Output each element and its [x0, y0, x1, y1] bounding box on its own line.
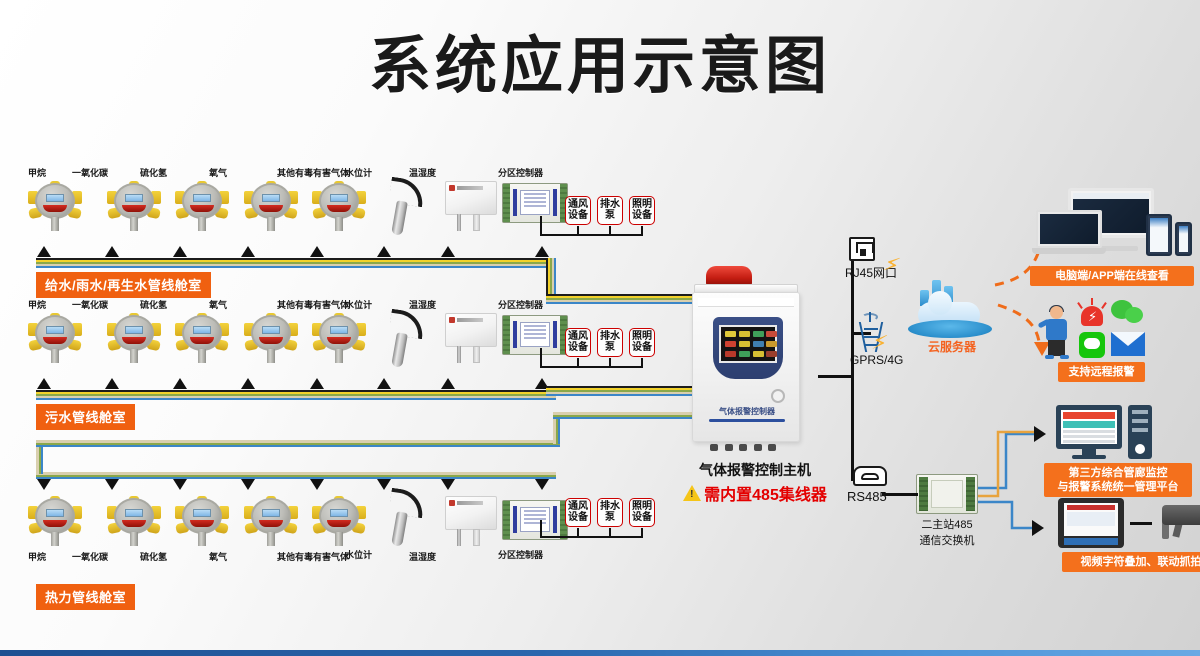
email-icon — [1111, 332, 1145, 356]
controller-to-network-line — [818, 375, 854, 378]
equipment-drop-2 — [609, 226, 611, 235]
rs485-group: RS485 — [847, 466, 887, 504]
controller-device-caption: 气体报警控制器 — [711, 406, 783, 417]
controller-accent-line — [709, 419, 785, 422]
alarm-host-label: 气体报警控制主机 — [660, 460, 850, 480]
cable-bus-row1 — [36, 258, 556, 268]
water-level-probe-icon — [380, 311, 434, 369]
equipment-ventilation[interactable]: 通风设备 — [565, 498, 591, 527]
controller-panel — [713, 317, 783, 379]
sensor-uplink-arrow — [37, 246, 51, 257]
equipment-lighting[interactable]: 照明设备 — [629, 196, 655, 225]
gas-detector-icon — [175, 313, 229, 365]
equipment-drop-3 — [641, 358, 643, 367]
controller-lcd-screen — [719, 325, 777, 363]
equipment-lighting[interactable]: 照明设备 — [629, 328, 655, 357]
chamber-row-water-supply: 甲烷 一氧化碳 硫化氢 氧气 — [0, 168, 680, 288]
sensor-uplink-arrow — [535, 246, 549, 257]
water-level-probe-icon — [380, 179, 434, 237]
sensor-downlink-arrow — [105, 479, 119, 490]
devices-mockup — [1024, 188, 1194, 262]
platform-caption-line2: 与报警系统统一管理平台 — [1058, 481, 1179, 493]
controller-top-band — [698, 298, 794, 307]
sensor-downlink-arrow — [241, 479, 255, 490]
rj45-icon — [849, 237, 875, 261]
alarm-warning: 需内置485集线器 — [660, 481, 850, 505]
cable-bus-row2 — [36, 390, 556, 400]
temp-humidity-sensor-icon — [441, 311, 501, 365]
equipment-drop-1 — [577, 528, 579, 537]
equipment-riser-r3 — [540, 520, 542, 537]
monitoring-workstation-icon — [1056, 405, 1152, 461]
diagram-canvas: 系统应用示意图 甲烷 一氧化碳 硫化氢 — [0, 0, 1200, 656]
rs485-switch-label-line2: 通信交换机 — [916, 532, 978, 548]
sensor-uplink-arrow — [105, 378, 119, 389]
equipment-group-r1: 通风设备 排水泵 照明设备 — [565, 196, 655, 225]
wechat-icon — [1111, 300, 1143, 326]
zone-controller-board-icon — [502, 500, 568, 540]
equipment-group-r2: 通风设备 排水泵 照明设备 — [565, 328, 655, 357]
phone-icon — [1175, 222, 1192, 256]
gas-detector-icon — [107, 181, 161, 233]
pc-app-panel: 电脑端/APP端在线查看 — [1024, 188, 1194, 286]
video-overlay-device-icon — [1058, 498, 1124, 548]
controller-cable-glands — [710, 444, 776, 451]
gas-detector-icon — [312, 313, 366, 365]
platform-panel: 第三方综合管廊监控 与报警系统统一管理平台 — [1048, 405, 1192, 497]
sensor-uplink-arrow — [310, 246, 324, 257]
equipment-drain-pump[interactable]: 排水泵 — [597, 498, 623, 527]
laptop-icon — [1032, 210, 1106, 254]
gas-detector-icon — [175, 181, 229, 233]
equipment-drop-3 — [641, 528, 643, 537]
alarm-warning-text: 需内置485集线器 — [704, 481, 827, 505]
sensor-downlink-arrow — [377, 479, 391, 490]
video-panel: 视频字符叠加、联动抓拍 — [1058, 498, 1200, 572]
equipment-riser-r2 — [540, 348, 542, 367]
video-device-link — [1130, 522, 1152, 525]
equipment-lighting[interactable]: 照明设备 — [629, 498, 655, 527]
sensor-downlink-arrow — [441, 479, 455, 490]
gas-detector-icon — [175, 496, 229, 548]
rs485-label: RS485 — [847, 489, 887, 504]
chamber-banner-water-supply: 给水/雨水/再生水管线舱室 — [36, 272, 211, 298]
sensor-uplink-arrow — [377, 378, 391, 389]
sensor-uplink-arrow — [441, 378, 455, 389]
gas-alarm-controller-host[interactable]: 气体报警控制器 — [688, 262, 818, 452]
video-caption: 视频字符叠加、联动抓拍 — [1062, 552, 1200, 572]
zone-controller-board-icon — [502, 183, 568, 223]
temp-humidity-sensor-icon — [441, 179, 501, 233]
rs485-port-icon — [853, 466, 887, 486]
person-icon — [1040, 306, 1074, 358]
cctv-camera-icon — [1158, 503, 1200, 543]
equipment-drop-3 — [641, 226, 643, 235]
sensor-uplink-arrow — [173, 378, 187, 389]
sensor-downlink-arrow — [173, 479, 187, 490]
bus-trunk-row3-lower — [36, 440, 560, 447]
alarm-beacon-icon — [706, 266, 752, 286]
gas-detector-icon — [107, 496, 161, 548]
sms-icon — [1079, 332, 1105, 358]
gas-detector-icon — [28, 181, 82, 233]
platform-link-arrow — [1034, 426, 1046, 442]
chamber-banner-sewage: 污水管线舱室 — [36, 404, 135, 430]
platform-caption-line1: 第三方综合管廊监控 — [1069, 467, 1168, 479]
bus-trunk-row2 — [546, 386, 694, 396]
remote-alarm-caption: 支持远程报警 — [1058, 362, 1145, 382]
rs485-switch-group: 二主站485 通信交换机 — [916, 474, 978, 548]
sensor-uplink-arrow — [37, 378, 51, 389]
bus-riser-row1 — [546, 258, 556, 294]
gas-detector-icon — [244, 496, 298, 548]
gas-detector-icon — [244, 313, 298, 365]
pc-app-caption: 电脑端/APP端在线查看 — [1030, 266, 1194, 286]
equipment-ventilation[interactable]: 通风设备 — [565, 196, 591, 225]
equipment-drop-1 — [577, 358, 579, 367]
alarm-siren-icon: ⚡ — [1079, 300, 1105, 328]
platform-caption: 第三方综合管廊监控 与报警系统统一管理平台 — [1044, 463, 1192, 497]
gas-detector-icon — [244, 181, 298, 233]
gas-detector-icon — [312, 496, 366, 548]
chamber-banner-heating: 热力管线舱室 — [36, 584, 135, 610]
gas-detector-icon — [28, 496, 82, 548]
equipment-bus-line-r2 — [540, 366, 643, 368]
water-level-probe-icon — [380, 490, 434, 548]
gas-detector-icon — [312, 181, 366, 233]
sensor-uplink-arrow — [241, 246, 255, 257]
equipment-riser-r1 — [540, 216, 542, 235]
sensor-uplink-arrow — [441, 246, 455, 257]
zone-controller-label: 分区控制器 — [498, 550, 588, 561]
sensor-label: 温湿度 — [409, 168, 509, 179]
sensor-uplink-arrow — [105, 246, 119, 257]
equipment-drop-2 — [609, 528, 611, 537]
equipment-bus-line-r1 — [540, 234, 643, 236]
page-title: 系统应用示意图 — [0, 36, 1200, 98]
sensor-label: 温湿度 — [409, 552, 509, 563]
temp-humidity-sensor-icon — [441, 494, 501, 548]
sensor-downlink-arrow — [37, 479, 51, 490]
equipment-group-r3: 通风设备 排水泵 照明设备 — [565, 498, 655, 527]
zone-controller-label: 分区控制器 — [498, 168, 588, 179]
sensor-label: 温湿度 — [409, 300, 509, 311]
bus-trunk-row3-to-controller — [553, 412, 694, 419]
footer-strip — [0, 650, 1200, 656]
equipment-drop-1 — [577, 226, 579, 235]
gas-detector-icon — [107, 313, 161, 365]
tablet-icon — [1146, 214, 1172, 256]
equipment-bus-line-r3 — [540, 536, 643, 538]
rs485-switch-label-line1: 二主站485 — [916, 516, 978, 532]
sensor-uplink-arrow — [377, 246, 391, 257]
equipment-drain-pump[interactable]: 排水泵 — [597, 328, 623, 357]
equipment-ventilation[interactable]: 通风设备 — [565, 328, 591, 357]
zone-controller-board-icon — [502, 315, 568, 355]
sensor-downlink-arrow — [310, 479, 324, 490]
equipment-drop-2 — [609, 358, 611, 367]
chamber-row-sewage: 甲烷 一氧化碳 硫化氢 氧气 — [0, 300, 680, 420]
sensor-uplink-arrow — [310, 378, 324, 389]
remote-alarm-panel: ⚡ 支持远程报警 — [1040, 300, 1145, 382]
gas-detector-icon — [28, 313, 82, 365]
sensor-downlink-arrow — [535, 479, 549, 490]
zone-controller-label: 分区控制器 — [498, 300, 588, 311]
rs485-to-switch-line — [882, 493, 918, 496]
warning-triangle-icon — [683, 485, 701, 501]
rs485-switch-icon — [916, 474, 978, 514]
video-link-arrow — [1032, 520, 1044, 536]
sensor-uplink-arrow — [241, 378, 255, 389]
controller-cabinet: 气体报警控制器 — [692, 292, 800, 442]
controller-knob[interactable] — [771, 389, 785, 403]
sensor-uplink-arrow — [173, 246, 187, 257]
cable-bus-row3 — [36, 472, 556, 479]
equipment-drain-pump[interactable]: 排水泵 — [597, 196, 623, 225]
